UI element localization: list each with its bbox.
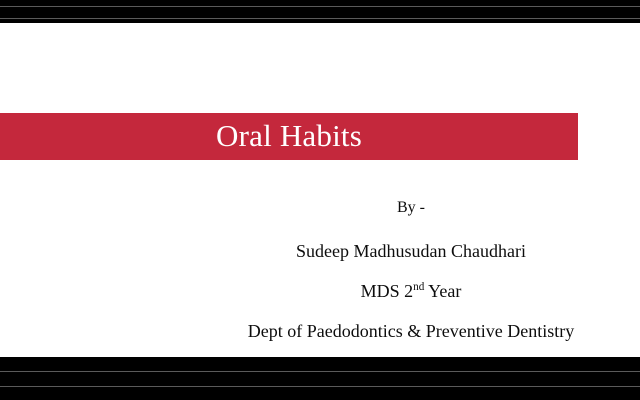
slide-canvas: Oral Habits By - Sudeep Madhusudan Chaud… — [0, 0, 640, 400]
byline-block: By - Sudeep Madhusudan Chaudhari MDS 2nd… — [196, 200, 626, 340]
byline-department: Dept of Paedodontics & Preventive Dentis… — [196, 322, 626, 340]
byline-by-label: By - — [196, 200, 626, 216]
top-band-hairline-2 — [0, 18, 640, 19]
byline-presenter-name: Sudeep Madhusudan Chaudhari — [196, 242, 626, 260]
bottom-band-hairline-1 — [0, 371, 640, 372]
byline-degree-suffix: Year — [424, 281, 461, 301]
top-decorative-band — [0, 0, 640, 23]
byline-degree-superscript: nd — [413, 281, 424, 293]
top-band-hairline-1 — [0, 6, 640, 7]
bottom-band-hairline-2 — [0, 386, 640, 387]
bottom-decorative-band — [0, 357, 640, 400]
byline-degree: MDS 2nd Year — [196, 282, 626, 300]
title-bar: Oral Habits — [0, 113, 578, 160]
byline-degree-prefix: MDS 2 — [361, 281, 414, 301]
slide-title: Oral Habits — [216, 120, 362, 154]
